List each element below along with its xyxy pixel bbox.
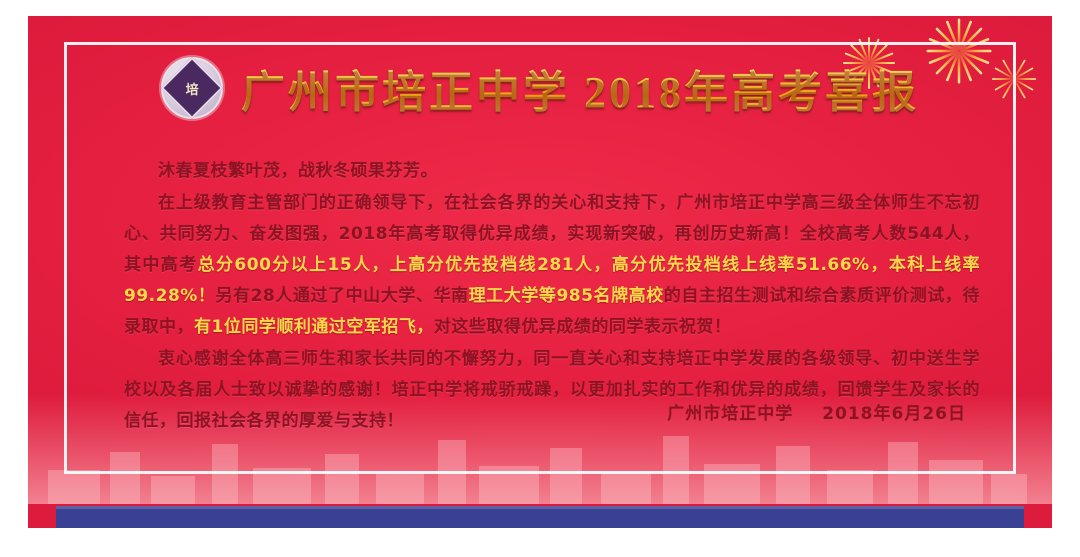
results-highlight-universities: 理工大学等985名牌高校 [469,286,664,306]
results-text-part-4: 对这些取得优异成绩的同学表示祝贺！ [434,317,732,337]
signature-block: 广州市培正中学 2018年6月26日 [667,399,966,424]
congratulatory-poster: 培 广州市培正中学 2018年高考喜报 沐春夏枝繁叶茂，战秋冬硕果芬芳。 在上级… [28,16,1052,528]
results-text-part-2: 另有28人通过了中山大学、华南 [215,286,468,306]
paragraph-results: 在上级教育主管部门的正确领导下，在社会各界的关心和支持下，广州市培正中学高三级全… [124,188,980,343]
school-crest-icon: 培 [161,57,223,119]
signature-date: 2018年6月26日 [822,404,966,424]
poster-body: 沐春夏枝繁叶茂，战秋冬硕果芬芳。 在上级教育主管部门的正确领导下，在社会各界的关… [124,156,980,438]
school-crest-label: 培 [186,78,198,97]
results-highlight-airforce: 有1位同学顺利通过空军招飞， [194,317,434,337]
opening-line: 沐春夏枝繁叶茂，战秋冬硕果芬芳。 [124,156,980,187]
poster-header: 培 广州市培正中学 2018年高考喜报 [28,52,1052,124]
signature-organization: 广州市培正中学 [667,404,793,424]
blue-band-highlight [56,506,1024,509]
page-title: 广州市培正中学 2018年高考喜报 [241,56,919,120]
bottom-blue-band [56,506,1024,528]
